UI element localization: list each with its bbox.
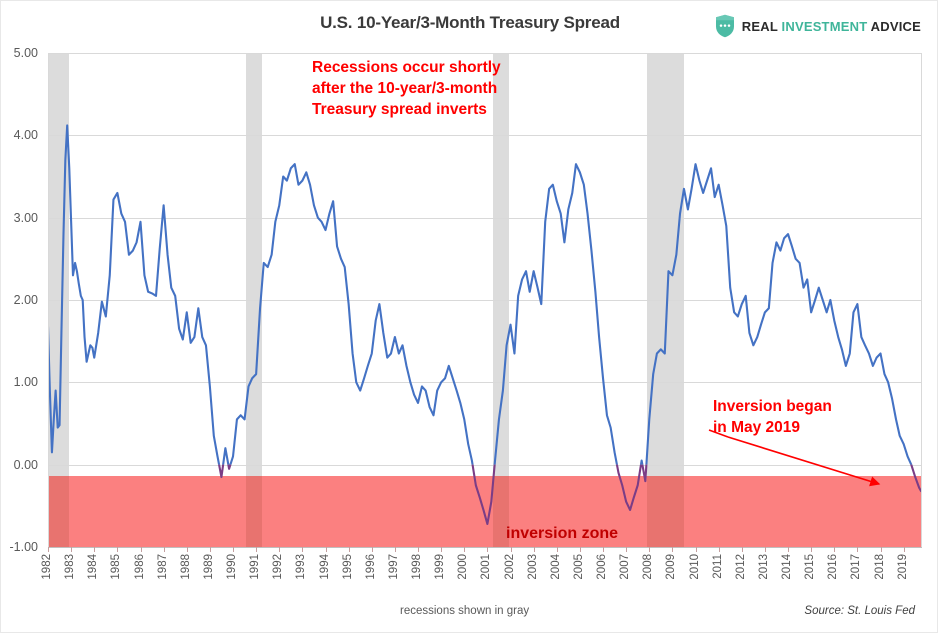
x-axis-tick-label: 1994 — [320, 554, 332, 580]
x-axis-tick — [256, 547, 257, 552]
x-axis-tick — [441, 547, 442, 552]
x-axis-tick — [603, 547, 604, 552]
footer-note-right: Source: St. Louis Fed — [804, 605, 915, 617]
x-axis-tick — [349, 547, 350, 552]
footer-note-left: recessions shown in gray — [400, 605, 529, 617]
x-axis-tick-label: 1984 — [88, 554, 100, 580]
x-axis-tick-label: 1998 — [412, 554, 424, 580]
x-axis-tick — [719, 547, 720, 552]
x-axis-tick-label: 1996 — [366, 554, 378, 580]
x-axis-tick-label: 2007 — [620, 554, 632, 580]
x-axis-tick — [696, 547, 697, 552]
logo-word-real: REAL — [742, 19, 782, 34]
y-axis-tick-label: 2.00 — [14, 293, 38, 307]
x-axis-tick — [649, 547, 650, 552]
x-axis-tick-label: 1990 — [227, 554, 239, 580]
x-axis-tick — [580, 547, 581, 552]
x-axis-labels: 1982198319841985198619871988198919901991… — [48, 550, 921, 596]
x-axis-tick — [765, 547, 766, 552]
brand-logo-text: REAL INVESTMENT ADVICE — [742, 19, 921, 34]
x-axis-tick — [164, 547, 165, 552]
x-axis-tick — [857, 547, 858, 552]
x-axis-tick-label: 1988 — [181, 554, 193, 580]
x-axis-tick — [372, 547, 373, 552]
x-axis-tick-label: 2013 — [759, 554, 771, 580]
logo-word-advice: ADVICE — [867, 19, 921, 34]
x-axis-tick — [94, 547, 95, 552]
x-axis-tick-label: 1992 — [273, 554, 285, 580]
plot-right-border — [921, 53, 922, 547]
inversion-zone-label: inversion zone — [506, 525, 618, 543]
x-axis-tick-label: 2019 — [898, 554, 910, 580]
x-axis-tick — [487, 547, 488, 552]
x-axis-tick-label: 2016 — [828, 554, 840, 580]
x-axis-tick-label: 1995 — [343, 554, 355, 580]
x-axis-tick — [233, 547, 234, 552]
x-axis-tick — [788, 547, 789, 552]
x-axis-tick — [511, 547, 512, 552]
x-axis-tick-label: 1986 — [135, 554, 147, 580]
x-axis-tick — [834, 547, 835, 552]
x-axis-tick-label: 1989 — [204, 554, 216, 580]
x-axis-tick-label: 1993 — [296, 554, 308, 580]
x-axis-tick-label: 1997 — [389, 554, 401, 580]
x-axis-tick — [302, 547, 303, 552]
x-axis-tick-label: 2004 — [551, 554, 563, 580]
plot-area — [48, 53, 921, 547]
x-axis-tick-label: 2011 — [713, 554, 725, 579]
x-axis-tick-label: 1987 — [158, 554, 170, 580]
x-axis-tick — [557, 547, 558, 552]
x-axis-tick-label: 1983 — [65, 554, 77, 580]
x-axis-tick — [71, 547, 72, 552]
x-axis-tick — [464, 547, 465, 552]
x-axis-tick-label: 2003 — [528, 554, 540, 580]
logo-word-investment: INVESTMENT — [782, 19, 868, 34]
y-axis-line — [48, 53, 49, 547]
annotation-recession-note: Recessions occur shortly after the 10-ye… — [312, 58, 501, 121]
x-axis-tick — [48, 547, 49, 552]
y-axis-tick-label: 5.00 — [14, 46, 38, 60]
y-axis-tick-label: 3.00 — [14, 211, 38, 225]
x-axis-tick — [672, 547, 673, 552]
y-axis-tick-label: 4.00 — [14, 128, 38, 142]
x-axis-tick — [742, 547, 743, 552]
x-axis-tick — [187, 547, 188, 552]
x-axis-tick — [326, 547, 327, 552]
y-axis-tick-label: -1.00 — [10, 540, 39, 554]
x-axis-tick-label: 1982 — [42, 554, 54, 580]
x-axis-tick-label: 2014 — [782, 554, 794, 580]
x-axis-tick-label: 2015 — [805, 554, 817, 580]
x-axis-tick-label: 2017 — [851, 554, 863, 580]
x-axis-tick-label: 2018 — [875, 554, 887, 580]
x-axis-tick — [279, 547, 280, 552]
spread-line-series — [48, 53, 921, 547]
x-axis-tick — [881, 547, 882, 552]
x-axis-tick — [418, 547, 419, 552]
y-axis-labels: 5.004.003.002.001.000.00-1.00 — [1, 1, 45, 634]
x-axis-tick — [141, 547, 142, 552]
x-axis-tick-label: 2012 — [736, 554, 748, 580]
x-axis-tick-label: 2000 — [458, 554, 470, 580]
x-axis-tick — [811, 547, 812, 552]
x-axis-tick-label: 2008 — [643, 554, 655, 580]
brand-logo: REAL INVESTMENT ADVICE — [715, 14, 921, 38]
x-axis-tick-label: 2005 — [574, 554, 586, 580]
chart-frame: U.S. 10-Year/3-Month Treasury Spread REA… — [0, 0, 938, 633]
x-axis-tick-label: 1999 — [435, 554, 447, 580]
x-axis-tick — [904, 547, 905, 552]
x-axis-tick-label: 2002 — [505, 554, 517, 580]
series-line — [48, 125, 921, 524]
y-axis-tick-label: 1.00 — [14, 375, 38, 389]
shield-icon — [715, 14, 735, 38]
x-axis-tick-label: 1991 — [250, 554, 262, 580]
x-axis-tick-label: 2009 — [666, 554, 678, 580]
x-axis-tick — [117, 547, 118, 552]
x-axis-tick — [626, 547, 627, 552]
y-axis-tick-label: 0.00 — [14, 458, 38, 472]
x-axis-tick — [395, 547, 396, 552]
annotation-inversion-note: Inversion began in May 2019 — [713, 397, 832, 439]
x-axis-tick-label: 2001 — [481, 554, 493, 580]
x-axis-tick-label: 2006 — [597, 554, 609, 580]
x-axis-tick — [534, 547, 535, 552]
x-axis-tick-label: 1985 — [111, 554, 123, 580]
x-axis-line — [48, 547, 922, 548]
x-axis-tick-label: 2010 — [690, 554, 702, 580]
x-axis-tick — [210, 547, 211, 552]
